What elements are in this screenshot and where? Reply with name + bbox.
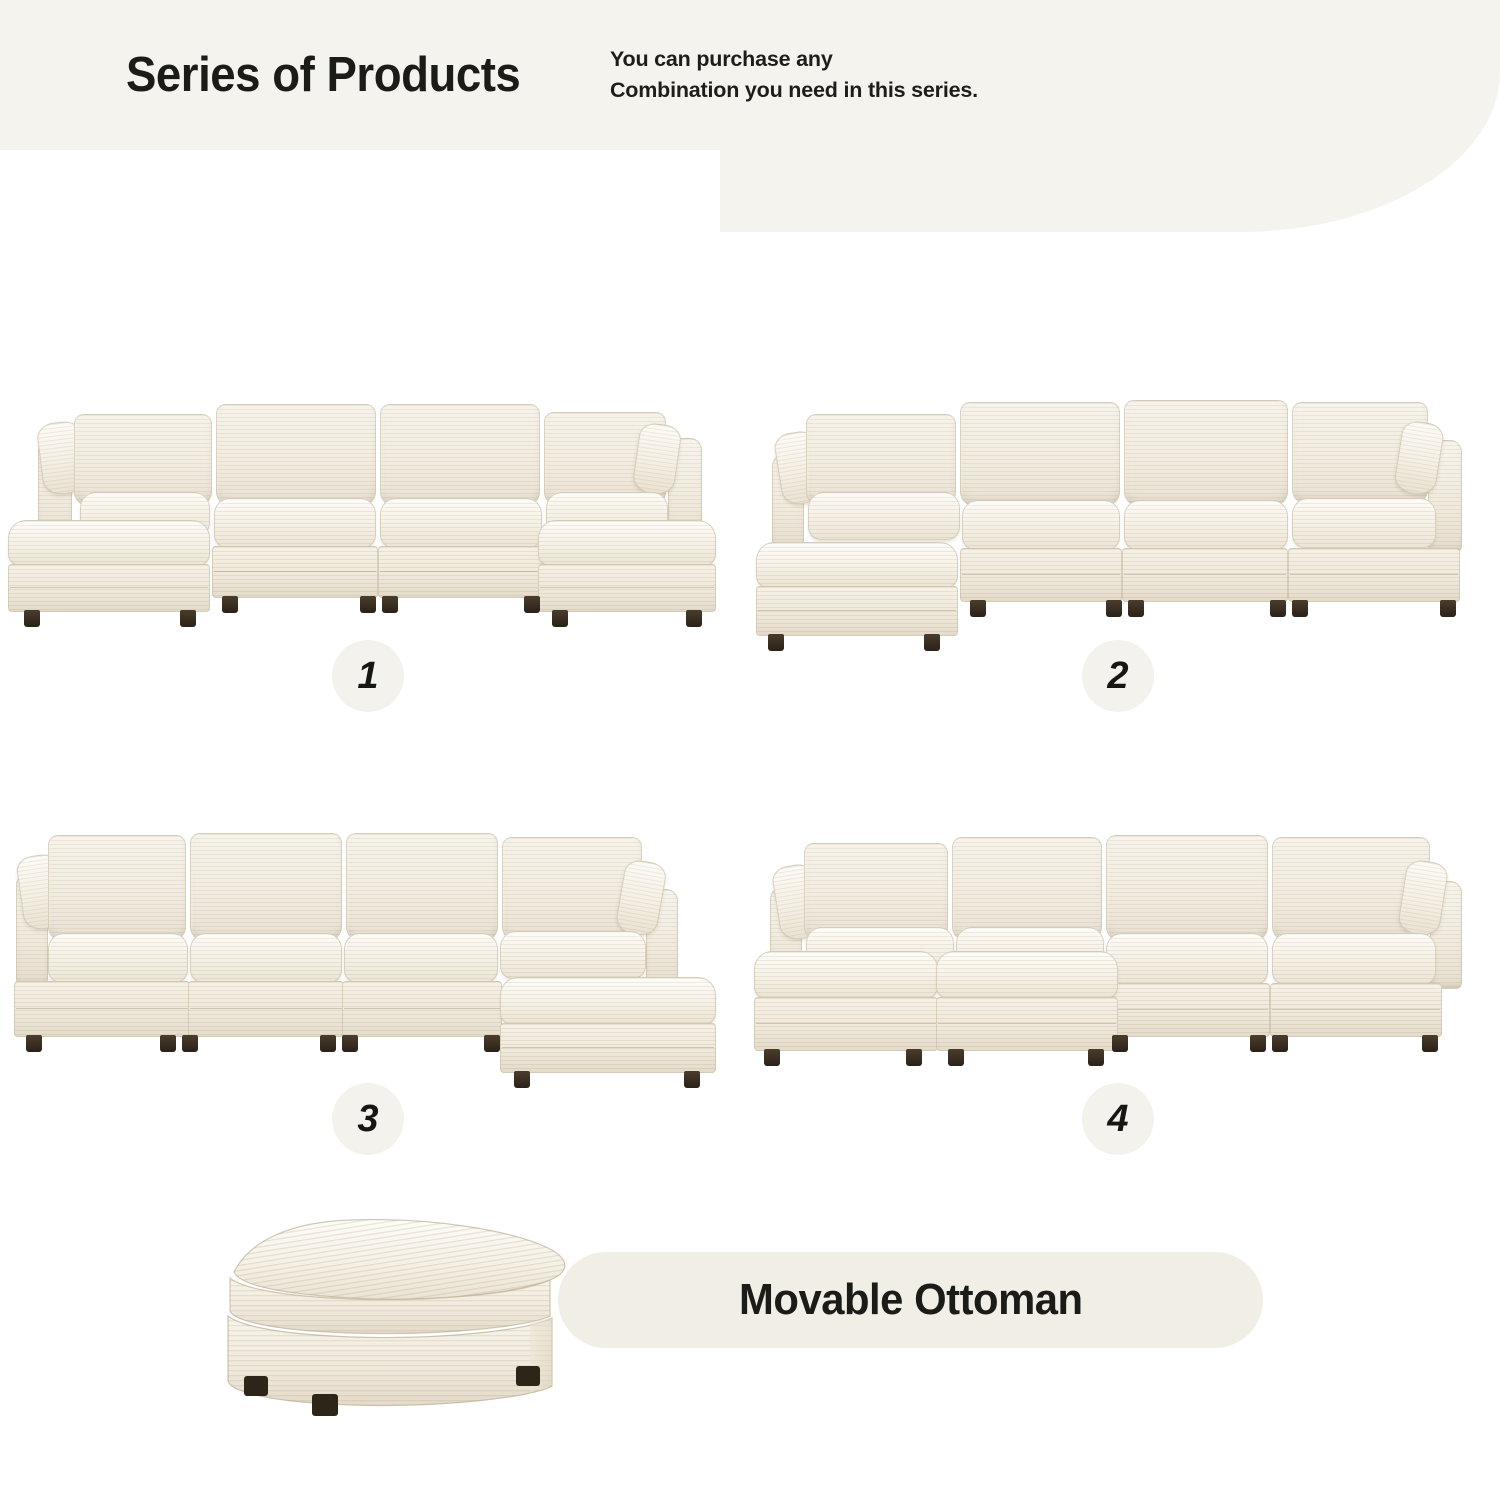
configuration-2-illustration: [750, 380, 1480, 630]
back-cushion: [380, 404, 540, 506]
configuration-3[interactable]: 3: [0, 815, 740, 1065]
back-cushion: [960, 402, 1120, 506]
ottoman-right[interactable]: [538, 520, 716, 612]
ottoman-pillow-cushion: [234, 1220, 565, 1300]
ottoman-foot: [244, 1376, 268, 1396]
sofa-foot: [182, 1035, 198, 1052]
ottoman-foot: [686, 610, 702, 627]
ottoman-foot: [768, 634, 784, 651]
ottoman-top-cushion: [754, 951, 938, 999]
configuration-3-illustration: [0, 815, 740, 1065]
sofa-foot: [382, 596, 398, 613]
module-base: [14, 981, 190, 1037]
configuration-badge-4: 4: [1082, 1083, 1154, 1155]
configuration-1-illustration: [0, 380, 740, 630]
sofa-foot: [1270, 600, 1286, 617]
ottoman-left[interactable]: [8, 520, 210, 612]
ottoman-foot: [764, 1049, 780, 1066]
movable-ottoman-illustration[interactable]: [200, 1190, 600, 1430]
page-title: Series of Products: [126, 51, 520, 100]
seat-cushion: [380, 498, 542, 548]
ottoman-foot: [180, 610, 196, 627]
back-cushion: [216, 404, 376, 506]
movable-ottoman-banner: Movable Ottoman: [558, 1252, 1263, 1348]
seat-cushion: [344, 933, 498, 983]
ottoman-foot: [516, 1366, 540, 1386]
ottoman-foot: [948, 1049, 964, 1066]
back-cushion: [346, 833, 498, 941]
module-base: [1288, 548, 1460, 602]
sofa-foot: [1250, 1035, 1266, 1052]
back-cushion: [952, 837, 1102, 941]
ottoman-top-cushion: [756, 542, 958, 588]
seat-cushion: [48, 933, 188, 983]
sofa-foot: [1106, 600, 1122, 617]
module-base: [378, 546, 544, 598]
seat-cushion: [1106, 933, 1268, 985]
seat-cushion: [1124, 500, 1288, 550]
sofa-foot: [360, 596, 376, 613]
module-base: [342, 981, 502, 1037]
ottoman-right[interactable]: [500, 977, 716, 1073]
configuration-1[interactable]: 1: [0, 380, 740, 630]
seat-cushion: [214, 498, 376, 548]
back-cushion: [1124, 400, 1288, 506]
ottoman-base: [754, 997, 938, 1051]
module-base: [212, 546, 378, 598]
header-subtitle-line-1: You can purchase any: [610, 44, 978, 75]
sofa-foot: [970, 600, 986, 617]
header: Series of Products You can purchase any …: [0, 0, 1500, 150]
ottoman-foot: [924, 634, 940, 651]
sofa-foot: [320, 1035, 336, 1052]
ottoman-svg: [200, 1190, 600, 1430]
sofa-foot: [222, 596, 238, 613]
ottoman-foot: [906, 1049, 922, 1066]
ottoman-foot: [514, 1071, 530, 1088]
ottoman-base: [756, 586, 958, 636]
seat-cushion: [962, 500, 1120, 550]
sofa-foot: [26, 1035, 42, 1052]
configuration-4[interactable]: 4: [750, 815, 1480, 1065]
module-base: [1122, 548, 1288, 602]
back-cushion: [190, 833, 342, 941]
ottoman-top-cushion: [500, 977, 716, 1025]
sofa-foot: [342, 1035, 358, 1052]
configuration-4-illustration: [750, 815, 1480, 1065]
header-subtitle-line-2: Combination you need in this series.: [610, 75, 978, 106]
back-cushion: [1106, 835, 1268, 941]
sofa-foot: [1440, 600, 1456, 617]
ottoman-foot: [552, 610, 568, 627]
ottoman-top-cushion: [936, 951, 1118, 999]
ottoman-top-cushion: [538, 520, 716, 566]
seat-cushion: [1272, 933, 1436, 985]
ottoman-base: [936, 997, 1118, 1051]
seat-cushion: [1292, 498, 1436, 548]
ottoman-foot: [684, 1071, 700, 1088]
ottoman-base: [538, 564, 716, 612]
ottoman-left[interactable]: [756, 542, 958, 636]
module-base: [960, 548, 1122, 602]
movable-ottoman-label: Movable Ottoman: [739, 1275, 1083, 1325]
ottoman-top-cushion: [8, 520, 210, 566]
sofa-foot: [1422, 1035, 1438, 1052]
back-cushion: [48, 835, 186, 941]
ottoman-foot: [312, 1394, 338, 1416]
ottoman-base: [500, 1023, 716, 1073]
ottoman-foot: [24, 610, 40, 627]
seat-cushion: [190, 933, 342, 983]
ottoman-left-outer[interactable]: [936, 951, 1118, 1051]
configuration-badge-3: 3: [332, 1083, 404, 1155]
configuration-badge-2: 2: [1082, 640, 1154, 712]
module-base: [188, 981, 344, 1037]
ottoman-base: [8, 564, 210, 612]
sofa-foot: [1272, 1035, 1288, 1052]
sofa-foot: [524, 596, 540, 613]
configuration-2[interactable]: 2: [750, 380, 1480, 630]
sofa-foot: [1112, 1035, 1128, 1052]
ottoman-foot: [1088, 1049, 1104, 1066]
sofa-foot: [1292, 600, 1308, 617]
sofa-foot: [484, 1035, 500, 1052]
seat-cushion-corner: [808, 492, 960, 540]
seat-cushion-corner: [500, 931, 646, 979]
ottoman-left-inner[interactable]: [754, 951, 938, 1051]
sofa-foot: [160, 1035, 176, 1052]
configuration-badge-1: 1: [332, 640, 404, 712]
header-subtitle: You can purchase any Combination you nee…: [610, 44, 978, 106]
module-base: [1102, 983, 1270, 1037]
sofa-foot: [1128, 600, 1144, 617]
module-base: [1270, 983, 1442, 1037]
